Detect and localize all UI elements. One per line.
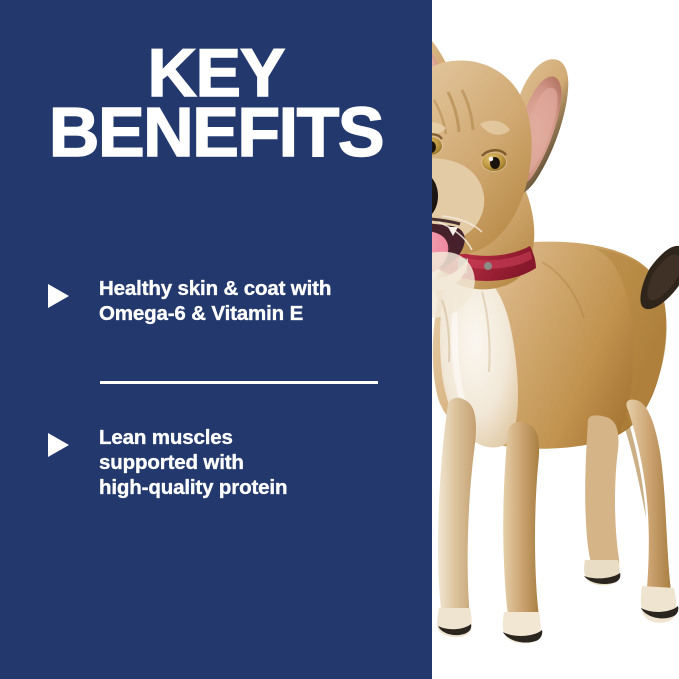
dog-image	[432, 0, 679, 679]
dog-photo-area	[432, 0, 679, 679]
list-item: Lean muscles supported with high-quality…	[0, 425, 432, 500]
benefit-text: Lean muscles supported with high-quality…	[99, 425, 287, 500]
dog-front-left-leg	[438, 398, 476, 632]
triangle-right-icon	[48, 284, 69, 308]
divider	[100, 381, 378, 384]
triangle-right-icon	[48, 433, 69, 457]
list-item: Healthy skin & coat with Omega-6 & Vitam…	[0, 276, 432, 326]
key-benefits-banner: KEY BENEFITS Healthy skin & coat with Om…	[0, 0, 679, 679]
headline-line-2: BENEFITS	[0, 102, 432, 162]
dog-hind-far-leg	[585, 415, 619, 581]
dog-front-right-leg	[503, 422, 539, 638]
benefit-list-top: Healthy skin & coat with Omega-6 & Vitam…	[0, 276, 432, 326]
benefit-list-bottom: Lean muscles supported with high-quality…	[0, 425, 432, 500]
navy-panel: KEY BENEFITS Healthy skin & coat with Om…	[0, 0, 432, 679]
benefit-text: Healthy skin & coat with Omega-6 & Vitam…	[99, 276, 331, 326]
page-title: KEY BENEFITS	[0, 44, 432, 163]
